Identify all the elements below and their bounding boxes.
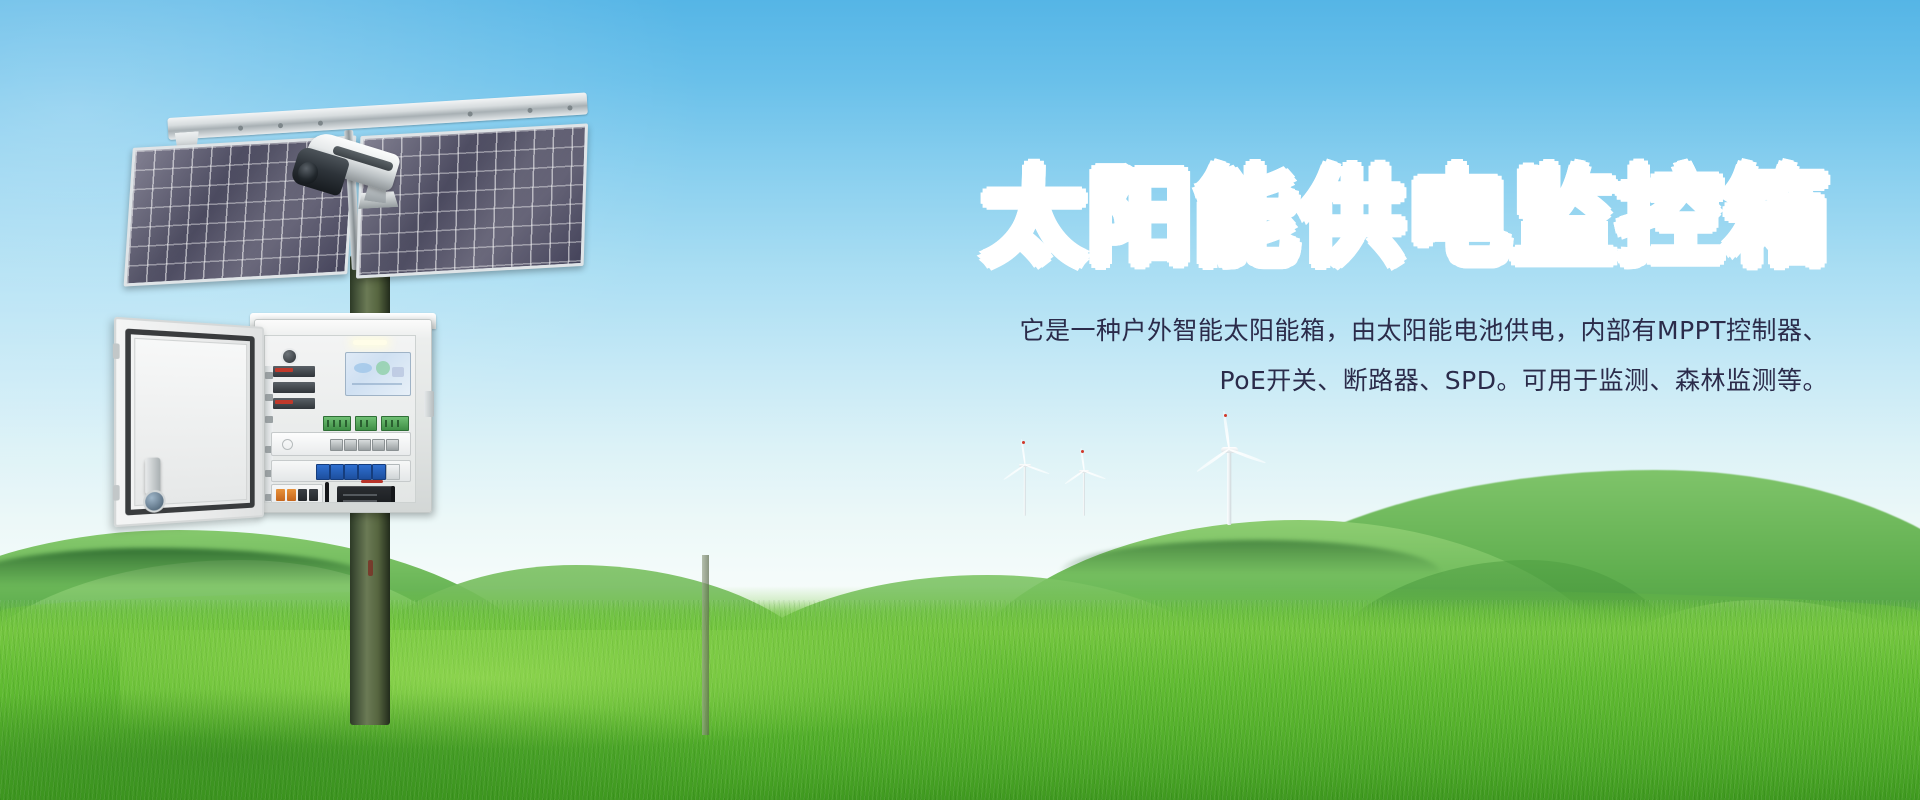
spd-surge-protector bbox=[271, 460, 411, 482]
turbine-blade bbox=[1025, 464, 1050, 475]
battery bbox=[337, 486, 395, 503]
turbine-mast bbox=[1083, 472, 1085, 516]
turbine-blade bbox=[1065, 471, 1085, 485]
subtitle-line-1: 它是一种户外智能太阳能箱，由太阳能电池供电，内部有MPPT控制器、 bbox=[620, 306, 1850, 356]
interior-lamp-icon bbox=[353, 340, 387, 345]
connector-pin bbox=[397, 420, 399, 427]
poe-switch bbox=[271, 432, 411, 456]
terminal-block-stack bbox=[273, 366, 315, 418]
door-hinge bbox=[113, 485, 120, 501]
mppt-controller-display bbox=[345, 352, 411, 396]
cabinet-interior bbox=[264, 335, 416, 503]
connector-pin bbox=[385, 420, 387, 427]
connector-pin bbox=[366, 420, 368, 427]
turbine-blade bbox=[1229, 449, 1267, 465]
door-hinge bbox=[113, 343, 120, 359]
rail-bolt bbox=[468, 111, 473, 116]
display-graphic-2 bbox=[376, 361, 390, 375]
ethernet-port bbox=[344, 439, 357, 451]
connector-pin bbox=[333, 420, 335, 427]
breaker-module bbox=[330, 464, 344, 480]
solar-power-monitoring-cabinet bbox=[118, 313, 430, 518]
banner-stage: 太阳能供电监控箱 它是一种户外智能太阳能箱，由太阳能电池供电，内部有MPPT控制… bbox=[0, 0, 1920, 800]
connector-pin bbox=[360, 420, 362, 427]
terminal-red-wire bbox=[275, 368, 293, 372]
wire-red bbox=[361, 480, 383, 483]
terminal-row bbox=[273, 382, 315, 393]
cabinet-side-latch bbox=[424, 391, 434, 417]
breaker-module bbox=[372, 464, 386, 480]
green-terminal-connector bbox=[355, 416, 377, 431]
wire-black bbox=[391, 486, 395, 503]
rail-bolt bbox=[527, 108, 532, 113]
pole-marker bbox=[368, 560, 373, 576]
connector-pin bbox=[391, 420, 393, 427]
poe-indicator bbox=[282, 439, 293, 450]
banner-text-block: 太阳能供电监控箱 它是一种户外智能太阳能箱，由太阳能电池供电，内部有MPPT控制… bbox=[620, 160, 1850, 406]
rail-bolt bbox=[278, 123, 283, 128]
display-graphic-1 bbox=[354, 363, 372, 373]
ethernet-port bbox=[372, 439, 385, 451]
cabinet-door[interactable] bbox=[114, 317, 264, 528]
breaker-switch bbox=[287, 489, 296, 501]
rail-clip bbox=[265, 394, 273, 401]
ethernet-port bbox=[358, 439, 371, 451]
breaker-switch bbox=[298, 489, 307, 501]
battery-label bbox=[343, 494, 377, 496]
turbine-left-small bbox=[1000, 448, 1050, 516]
page-title: 太阳能供电监控箱 bbox=[620, 160, 1850, 276]
connector-pin bbox=[327, 420, 329, 427]
rail-clip bbox=[265, 372, 273, 379]
breaker-module bbox=[386, 464, 400, 480]
display-graphic-3 bbox=[392, 367, 404, 377]
rail-bolt bbox=[567, 105, 572, 110]
breaker-switch bbox=[276, 489, 285, 501]
ethernet-port bbox=[386, 439, 399, 451]
banner-subtitle: 它是一种户外智能太阳能箱，由太阳能电池供电，内部有MPPT控制器、 PoE开关、… bbox=[620, 306, 1850, 406]
security-camera bbox=[288, 138, 408, 204]
solar-panel-array bbox=[120, 70, 590, 290]
turbine-mast bbox=[1228, 451, 1232, 526]
circuit-breakers bbox=[271, 484, 323, 503]
pole-strap bbox=[702, 555, 709, 735]
controller-knob bbox=[281, 348, 298, 365]
display-line bbox=[352, 383, 402, 385]
breaker-module bbox=[316, 464, 330, 480]
turbine-mast bbox=[1024, 466, 1026, 516]
turbine-blade bbox=[1084, 470, 1106, 479]
connector-pin bbox=[345, 420, 347, 427]
breaker-module bbox=[358, 464, 372, 480]
breaker-module bbox=[344, 464, 358, 480]
ethernet-port bbox=[330, 439, 343, 451]
green-terminal-connector bbox=[323, 416, 351, 431]
terminal-red-wire bbox=[275, 400, 293, 404]
rail-bolt bbox=[318, 121, 323, 126]
turbine-left-small2 bbox=[1062, 456, 1106, 516]
green-terminal-connector bbox=[381, 416, 409, 431]
turbine-right-large bbox=[1192, 424, 1267, 525]
turbine-blade bbox=[1003, 464, 1025, 480]
subtitle-line-2: PoE开关、断路器、SPD。可用于监测、森林监测等。 bbox=[620, 356, 1850, 406]
connector-pin bbox=[339, 420, 341, 427]
wire-black bbox=[325, 482, 329, 503]
breaker-switch bbox=[309, 489, 318, 501]
rail-clip bbox=[265, 416, 273, 423]
turbine-blade bbox=[1197, 449, 1230, 474]
rail-bolt bbox=[238, 125, 243, 130]
